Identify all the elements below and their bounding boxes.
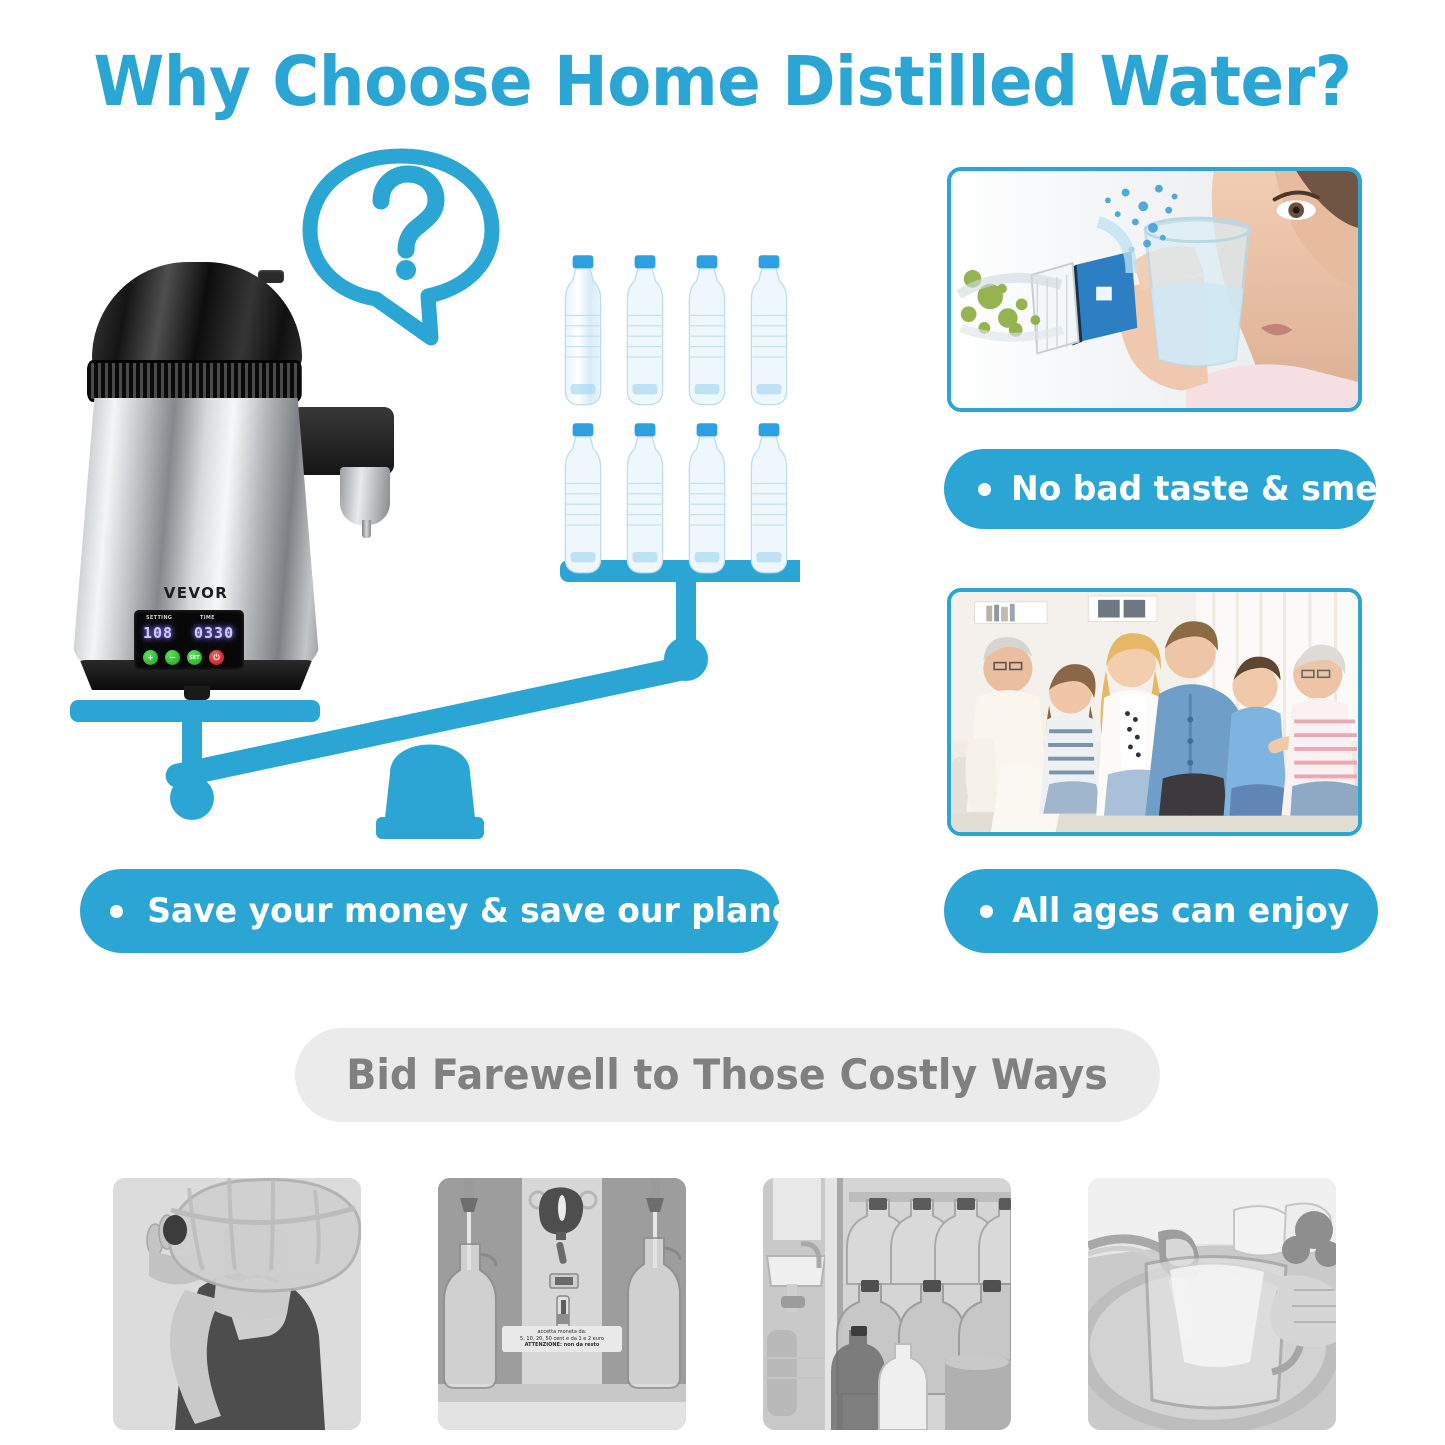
costly-ways-photo-row: accetta moneta da: 5, 10, 20, 50 cent e …	[0, 1178, 1445, 1436]
photo-water-vending-machine: accetta moneta da: 5, 10, 20, 50 cent e …	[438, 1178, 686, 1430]
setting-value-display: 108	[143, 624, 173, 642]
product-brand-label: VEVOR	[72, 584, 320, 602]
costly-ways-banner-label: Bid Farewell to Those Costly Ways	[347, 1054, 1108, 1096]
bullet-dot-icon	[980, 905, 993, 918]
bullet-dot-icon	[978, 483, 991, 496]
plastic-bottle-icon	[556, 418, 610, 580]
photo-family-on-sofa-content	[951, 592, 1358, 832]
panel-button-row: + − SET ⏻	[143, 650, 224, 665]
benefit-pill-all-ages: All ages can enjoy	[944, 869, 1378, 953]
distiller-foot	[184, 686, 210, 700]
minus-button[interactable]: −	[165, 650, 180, 665]
plastic-bottle-group	[556, 250, 796, 580]
benefit-pill-no-bad-taste: No bad taste & smell	[944, 449, 1376, 529]
photo-stacked-jugs-content	[763, 1178, 1011, 1430]
benefit-label-no-bad-taste: No bad taste & smell	[1011, 472, 1400, 506]
distiller-spout	[340, 467, 390, 525]
distiller-lid	[92, 262, 302, 372]
photo-water-vending-machine-content: accetta moneta da: 5, 10, 20, 50 cent e …	[438, 1178, 686, 1430]
distiller-control-panel[interactable]: SETTING TIME 108 0330 + − SET ⏻	[134, 610, 244, 670]
bullet-dot-icon	[110, 905, 123, 918]
vending-machine-label: accetta moneta da: 5, 10, 20, 50 cent e …	[502, 1326, 622, 1352]
distiller-fan-vent	[87, 360, 302, 402]
distiller-nozzle	[362, 520, 371, 538]
set-button[interactable]: SET	[187, 650, 202, 665]
time-label: TIME	[200, 615, 215, 621]
plastic-bottle-icon	[680, 250, 734, 412]
photo-carrying-jug	[113, 1178, 361, 1430]
costly-ways-banner: Bid Farewell to Those Costly Ways	[295, 1028, 1160, 1122]
vending-label-line1: accetta moneta da:	[504, 1329, 620, 1336]
photo-family-on-sofa	[947, 588, 1362, 836]
plastic-bottle-icon	[742, 250, 796, 412]
photo-woman-drinking-water-content	[951, 171, 1358, 408]
plus-button[interactable]: +	[143, 650, 158, 665]
setting-label: SETTING	[146, 615, 172, 621]
plastic-bottle-icon	[618, 250, 672, 412]
time-value-display: 0330	[194, 624, 234, 642]
distiller-spout-arm	[294, 407, 394, 475]
power-button[interactable]: ⏻	[209, 650, 224, 665]
benefit-label-all-ages: All ages can enjoy	[1012, 894, 1349, 928]
photo-carrying-jug-content	[113, 1178, 361, 1430]
plastic-bottle-icon	[680, 418, 734, 580]
vending-label-line2: 5, 10, 20, 50 cent e da 1 e 2 euro	[504, 1336, 620, 1343]
photo-filter-pitcher-content	[1088, 1178, 1336, 1430]
vending-label-line3: ATTENZIONE: non da resto	[504, 1342, 620, 1349]
plastic-bottle-icon	[742, 418, 796, 580]
page-title: Why Choose Home Distilled Water?	[51, 42, 1395, 122]
distiller-lid-knob	[258, 270, 284, 283]
benefit-pill-save-money: Save your money & save our planet	[80, 869, 780, 953]
plastic-bottle-icon	[618, 418, 672, 580]
plastic-bottle-icon	[556, 250, 610, 412]
photo-filter-pitcher	[1088, 1178, 1336, 1430]
water-distiller-product: VEVOR SETTING TIME 108 0330 + − SET ⏻	[72, 262, 392, 702]
infographic-page: Why Choose Home Distilled Water?	[0, 0, 1445, 1445]
panel-label-row: SETTING TIME	[134, 615, 244, 623]
benefit-label-save-money: Save your money & save our planet	[147, 894, 810, 928]
photo-woman-drinking-water	[947, 167, 1362, 412]
photo-stacked-jugs	[763, 1178, 1011, 1430]
